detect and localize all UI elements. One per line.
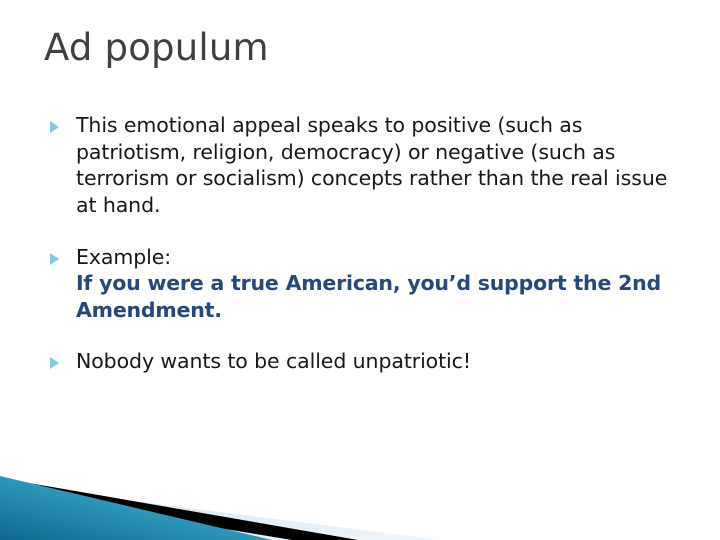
triangle-bullet-icon (50, 253, 59, 265)
decorative-corner-graphic (0, 448, 460, 540)
list-item: This emotional appeal speaks to positive… (44, 112, 668, 219)
slide: Ad populum This emotional appeal speaks … (0, 0, 720, 540)
triangle-bullet-icon (50, 121, 59, 133)
bullet-list: This emotional appeal speaks to positive… (44, 112, 668, 375)
deco-pale-blue-wedge (0, 484, 440, 540)
bullet-text-example-label: Example: (76, 245, 171, 269)
list-item: Nobody wants to be called unpatriotic! (44, 348, 668, 375)
triangle-bullet-icon (50, 357, 59, 369)
bullet-text-definition: This emotional appeal speaks to positive… (76, 113, 667, 217)
bullet-text-example-quote: If you were a true American, you’d suppo… (76, 270, 668, 323)
deco-black-stripe (0, 478, 358, 540)
list-item: Example: If you were a true American, yo… (44, 244, 668, 324)
bullet-text-takeaway: Nobody wants to be called unpatriotic! (76, 349, 471, 373)
deco-teal-triangle (0, 476, 272, 540)
page-title: Ad populum (44, 26, 684, 70)
